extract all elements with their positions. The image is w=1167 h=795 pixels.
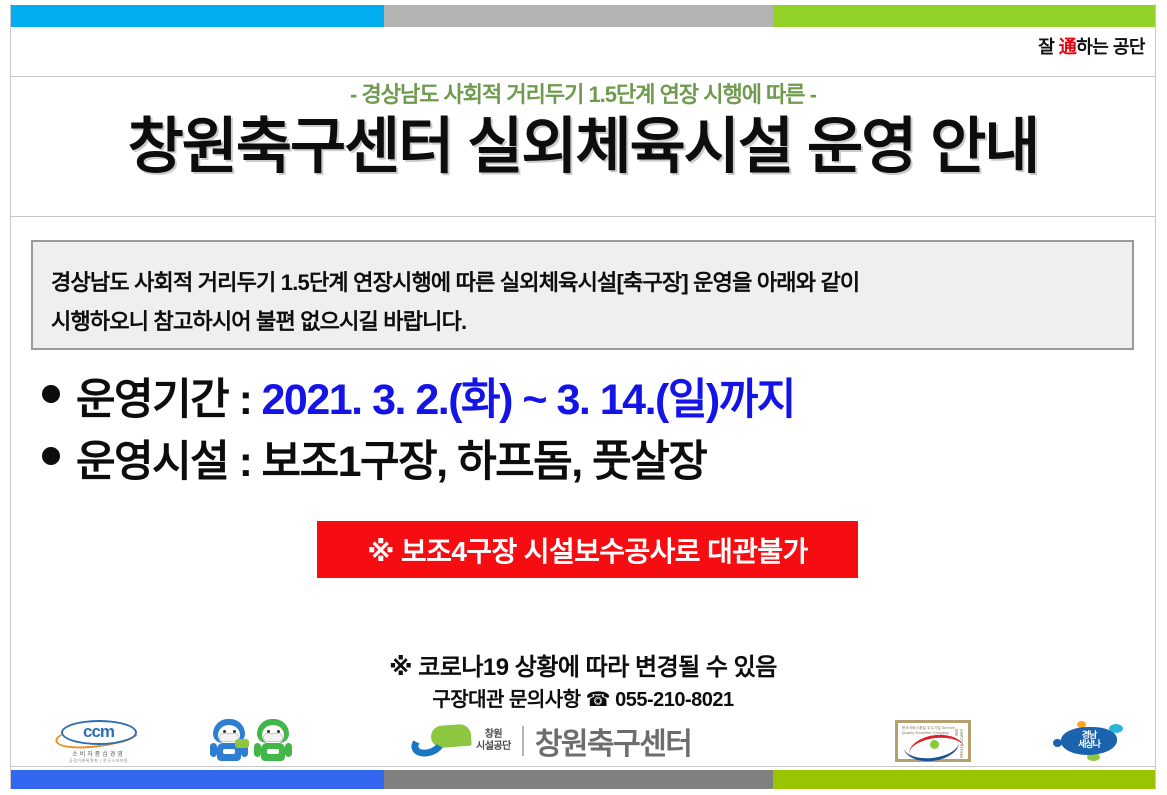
logo-divider [522, 726, 524, 756]
ccm-subtitle: 소비자중심경영 [72, 749, 125, 758]
changwon-swoosh-icon [411, 724, 473, 758]
ccm-wordmark: ccm [53, 722, 145, 742]
ccm-subtitle-agency: 공정거래위원회 | 한국소비자원 [69, 758, 128, 764]
bullet-list: 운영기간 : 2021. 3. 2.(화) ~ 3. 14.(일)까지 운영시설… [36, 365, 1146, 489]
poster-root: 잘 通하는 공단 - 경상남도 사회적 거리두기 1.5단계 연장 시행에 따른… [0, 0, 1167, 795]
divider-rule-middle [11, 216, 1155, 217]
soccer-center-wordmark: 창원축구센터 [535, 719, 692, 763]
gyeongnam-brand-logo: 경남 세상나 [1051, 716, 1141, 766]
blob-mark-icon: 경남 세상나 [1051, 719, 1127, 763]
top-bar-gray-segment [384, 5, 773, 27]
footnote-block: ※ 코로나19 상황에 따라 변경될 수 있음 구장대관 문의사항 ☎ 055-… [11, 652, 1155, 714]
notice-box: 경상남도 사회적 거리두기 1.5단계 연장시행에 따른 실외체육시설[축구장]… [31, 240, 1134, 350]
changwon-org-name-line1: 창원 [476, 729, 511, 742]
warning-banner-text: ※ 보조4구장 시설보수공사로 대관불가 [367, 530, 808, 570]
slogan-hanja: 通 [1059, 37, 1077, 57]
slogan-suffix: 하는 공단 [1076, 37, 1145, 57]
bottom-bar-green-segment [773, 770, 1155, 789]
list-item: 운영시설 : 보조1구장, 하프돔, 풋살장 [36, 427, 1146, 489]
bullet-label-facilities: 운영시설 : [76, 427, 252, 489]
blob-wordmark: 경남 세상나 [1061, 731, 1117, 750]
organization-slogan: 잘 通하는 공단 [1038, 33, 1145, 59]
top-bar-blue-segment [11, 5, 384, 27]
certificate-side-caption: 인증기관 한국표준협회 [955, 729, 965, 759]
notice-line-1: 경상남도 사회적 거리두기 1.5단계 연장시행에 따른 실외체육시설[축구장]… [51, 264, 1114, 303]
poster-subtitle: - 경상남도 사회적 거리두기 1.5단계 연장 시행에 따른 - [11, 82, 1155, 108]
warning-banner: ※ 보조4구장 시설보수공사로 대관불가 [317, 521, 858, 578]
bullet-dot-icon [42, 385, 60, 403]
service-quality-certificate-logo: 한국서비스품질 우수기업 Service Quality Excellent C… [895, 716, 985, 766]
certificate-knot-icon [930, 740, 939, 749]
blue-mascot-icon [209, 719, 249, 763]
footnote-covid: ※ 코로나19 상황에 따라 변경될 수 있음 [11, 652, 1155, 684]
green-mascot-icon [253, 719, 293, 763]
divider-rule-bottom [11, 766, 1155, 767]
bottom-bar-blue-segment [11, 770, 384, 789]
page-title: 창원축구센터 실외체육시설 운영 안내 [11, 114, 1155, 178]
bullet-value-facilities: 보조1구장, 하프돔, 풋살장 [262, 427, 707, 489]
changwon-org-name-line2: 시설공단 [476, 741, 511, 754]
changwon-facilities-logo: 창원 시설공단 창원축구센터 [411, 716, 791, 766]
headline-block: - 경상남도 사회적 거리두기 1.5단계 연장 시행에 따른 - 창원축구센터… [11, 82, 1155, 178]
changwon-org-name: 창원 시설공단 [476, 729, 511, 754]
ccm-certification-logo: ccm 소비자중심경영 공정거래위원회 | 한국소비자원 [46, 716, 151, 766]
bottom-bar-gray-segment [384, 770, 773, 789]
certificate-frame-icon: 한국서비스품질 우수기업 Service Quality Excellent C… [895, 720, 971, 762]
bullet-label-period: 운영기간 : [76, 365, 252, 427]
bullet-dot-icon [42, 447, 60, 465]
bullet-value-period: 2021. 3. 2.(화) ~ 3. 14.(일)까지 [262, 365, 795, 427]
list-item: 운영기간 : 2021. 3. 2.(화) ~ 3. 14.(일)까지 [36, 365, 1146, 427]
top-bar-green-segment [773, 5, 1155, 27]
footnote-contact: 구장대관 문의사항 ☎ 055-210-8021 [11, 686, 1155, 714]
bottom-color-bar [11, 770, 1155, 789]
mascot-characters [196, 716, 306, 766]
blob-wordmark-line2: 세상나 [1061, 740, 1117, 749]
frame-right-border [1155, 4, 1156, 789]
notice-line-2: 시행하오니 참고하시어 불편 없으시길 바랍니다. [51, 303, 1114, 342]
logo-strip: ccm 소비자중심경영 공정거래위원회 | 한국소비자원 [11, 716, 1155, 766]
slogan-prefix: 잘 [1038, 37, 1059, 57]
top-color-bar [11, 5, 1155, 27]
divider-rule-top [11, 76, 1155, 77]
ccm-mark-icon: ccm [53, 718, 145, 748]
